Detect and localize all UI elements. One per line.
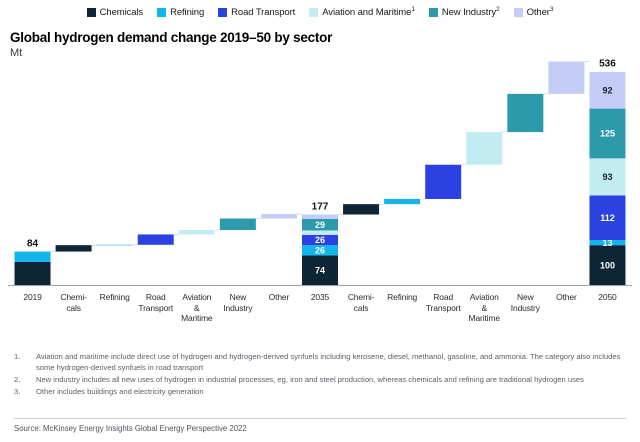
footnote-3: 3. Other includes buildings and electric… — [14, 387, 626, 398]
footnote-2: 2. New industry includes all new uses of… — [14, 375, 626, 386]
x-tick-1: Chemi-cals — [53, 292, 94, 313]
stack-segment-2019-chemicals[interactable] — [15, 262, 51, 285]
footnote-3-text: Other includes buildings and electricity… — [36, 387, 626, 398]
footnote-3-number: 3. — [14, 387, 36, 398]
delta-bar-4-aviation-and-maritime[interactable] — [179, 230, 215, 234]
segment-value-2050-aviation-and-maritime: 93 — [602, 172, 612, 182]
segment-value-2035-road-transport: 26 — [315, 235, 325, 245]
segment-value-2050-road-transport: 112 — [600, 213, 615, 223]
x-tick-14: 2050 — [587, 292, 628, 303]
segment-value-2050-other: 92 — [602, 85, 612, 95]
delta-bar-1-chemicals[interactable] — [56, 245, 92, 251]
total-label-2050: 536 — [599, 59, 616, 70]
x-tick-5: NewIndustry — [217, 292, 258, 313]
stack-segment-2035-aviation-and-maritime[interactable] — [302, 230, 338, 234]
x-tick-8: Chemi-cals — [341, 292, 382, 313]
segment-value-2035-refining: 26 — [315, 246, 325, 256]
footnote-1-number: 1. — [14, 352, 36, 373]
x-tick-12: NewIndustry — [505, 292, 546, 313]
chart-plot-area: 8474262629177100131129312592536 — [0, 0, 640, 300]
stack-segment-2019-refining[interactable] — [15, 252, 51, 262]
x-tick-6: Other — [258, 292, 299, 303]
total-label-2019: 84 — [27, 239, 39, 250]
segment-value-2050-new-industry: 125 — [600, 129, 615, 139]
delta-bar-2-refining[interactable] — [97, 245, 133, 246]
delta-bar-10-road-transport[interactable] — [425, 165, 461, 199]
source-note: Source: McKinsey Energy Insights Global … — [14, 424, 247, 433]
footnote-1: 1. Aviation and maritime include direct … — [14, 352, 626, 373]
delta-bar-5-new-industry[interactable] — [220, 218, 256, 230]
total-label-2035: 177 — [312, 202, 329, 213]
x-tick-2: Refining — [94, 292, 135, 303]
segment-value-2050-chemicals: 100 — [600, 260, 615, 270]
x-tick-10: RoadTransport — [423, 292, 464, 313]
x-tick-4: Aviation&Maritime — [176, 292, 217, 324]
delta-bar-9-refining[interactable] — [384, 199, 420, 204]
delta-bar-13-other[interactable] — [548, 62, 584, 94]
x-axis-labels: 2019Chemi-calsRefiningRoadTransportAviat… — [0, 292, 640, 342]
delta-bar-8-chemicals[interactable] — [343, 204, 379, 214]
x-tick-0: 2019 — [12, 292, 53, 303]
delta-bar-12-new-industry[interactable] — [507, 94, 543, 132]
waterfall-chart-svg: 8474262629177100131129312592536 — [0, 0, 640, 300]
segment-value-2035-chemicals: 74 — [315, 265, 325, 275]
delta-bar-6-other[interactable] — [261, 214, 297, 218]
x-tick-9: Refining — [382, 292, 423, 303]
footnote-1-text: Aviation and maritime include direct use… — [36, 352, 626, 373]
delta-bar-11-aviation-and-maritime[interactable] — [466, 132, 502, 165]
footnotes-block: 1. Aviation and maritime include direct … — [14, 352, 626, 399]
x-tick-13: Other — [546, 292, 587, 303]
footnote-2-text: New industry includes all new uses of hy… — [36, 375, 626, 386]
x-tick-11: Aviation&Maritime — [464, 292, 505, 324]
x-tick-3: RoadTransport — [135, 292, 176, 313]
segment-value-2035-new-industry: 29 — [315, 220, 325, 230]
source-divider — [14, 418, 626, 419]
delta-bar-3-road-transport[interactable] — [138, 234, 174, 244]
footnote-2-number: 2. — [14, 375, 36, 386]
stack-segment-2035-other[interactable] — [302, 215, 338, 219]
x-tick-7: 2035 — [299, 292, 340, 303]
